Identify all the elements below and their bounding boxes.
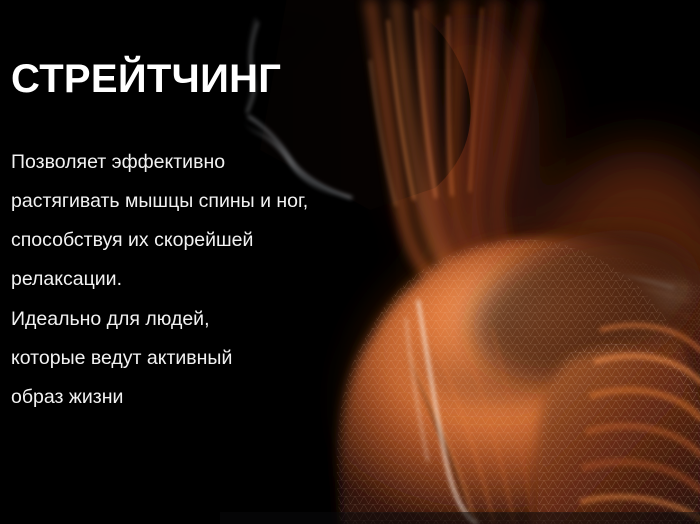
paragraph-audience-line-1: Идеально для людей, <box>11 300 341 339</box>
paragraph-benefit-line-3: способствуя их скорейшей <box>11 221 341 260</box>
paragraph-benefit: Позволяет эффективно растягивать мышцы с… <box>11 143 341 299</box>
paragraph-benefit-line-2: растягивать мышцы спины и ног, <box>11 182 341 221</box>
slide-root: Zona...te.com Zo СТРЕЙТЧИНГ Позволяет эф… <box>0 0 700 524</box>
page-title: СТРЕЙТЧИНГ <box>11 58 281 100</box>
text-column: СТРЕЙТЧИНГ Позволяет эффективно растягив… <box>0 0 348 524</box>
paragraph-audience-line-3: образ жизни <box>11 378 341 417</box>
paragraph-audience-line-2: которые ведут активный <box>11 339 341 378</box>
paragraph-audience: Идеально для людей, которые ведут активн… <box>11 300 341 417</box>
paragraph-benefit-line-1: Позволяет эффективно <box>11 143 341 182</box>
paragraph-benefit-line-4: релаксации. <box>11 260 341 299</box>
